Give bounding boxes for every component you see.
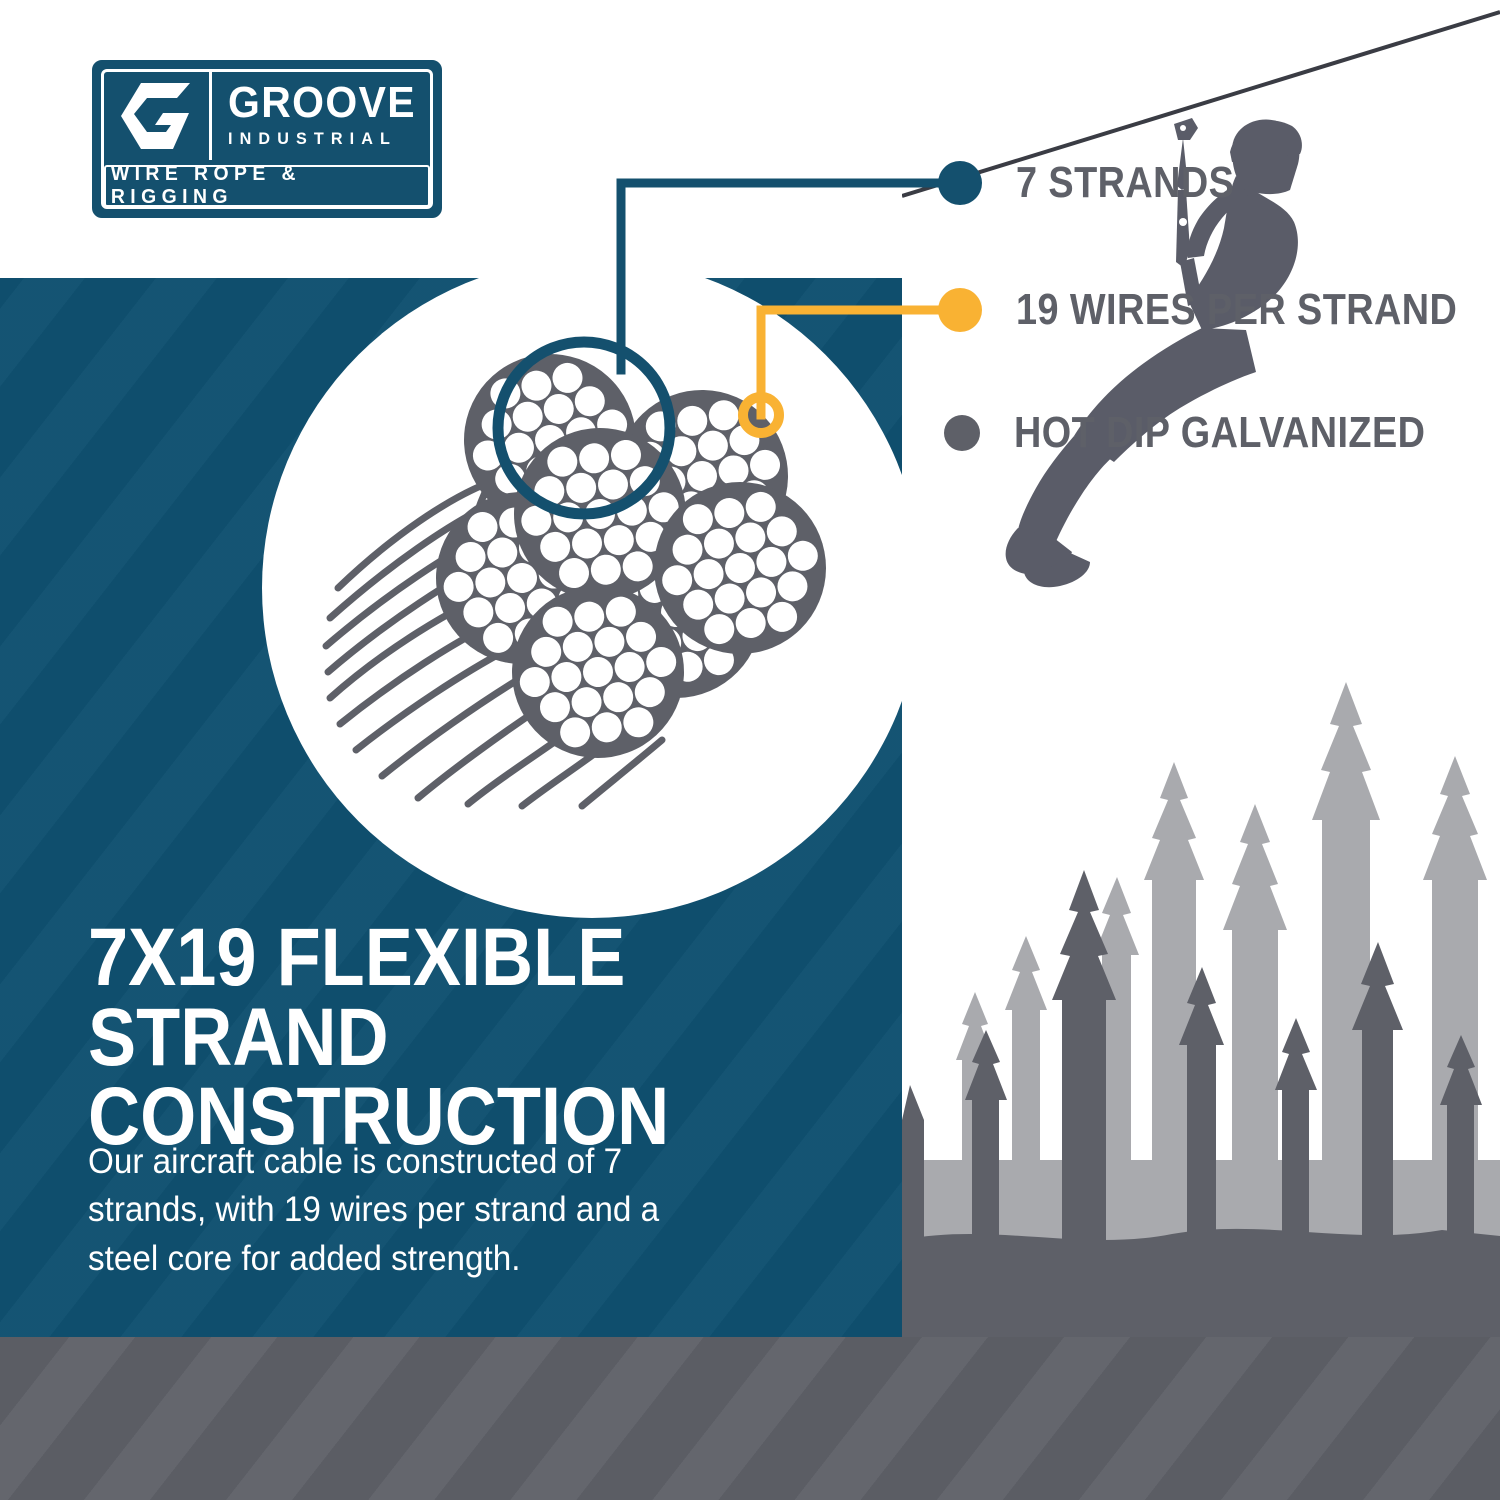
headline-line-1: 7X19 FLEXIBLE bbox=[88, 912, 625, 1003]
infographic-canvas: 7 STRANDS 19 WIRES PER STRAND HOT DIP GA… bbox=[0, 0, 1500, 1500]
callout-label-wires: 19 WIRES PER STRAND bbox=[1016, 285, 1457, 335]
logo-mark-cell bbox=[104, 72, 212, 160]
logo-subname: INDUSTRIAL bbox=[228, 129, 420, 149]
headline-line-2: STRAND CONSTRUCTION bbox=[88, 998, 783, 1157]
strand-group bbox=[425, 336, 841, 771]
logo-top-row: GROOVE INDUSTRIAL bbox=[104, 72, 430, 160]
bullet-dot-wires bbox=[938, 288, 982, 332]
logo-wordmark: GROOVE INDUSTRIAL bbox=[212, 72, 430, 160]
body-paragraph: Our aircraft cable is constructed of 7 s… bbox=[88, 1138, 734, 1283]
callout-strands[interactable]: 7 STRANDS bbox=[938, 158, 1270, 208]
callout-wires[interactable]: 19 WIRES PER STRAND bbox=[938, 285, 1500, 335]
callout-galvanized[interactable]: HOT DIP GALVANIZED bbox=[944, 408, 1492, 458]
groove-g-icon bbox=[119, 83, 193, 149]
callout-label-galvanized: HOT DIP GALVANIZED bbox=[1014, 408, 1425, 458]
diagonal-stripe-texture-bottom bbox=[0, 1337, 1500, 1500]
wire-rope-cross-section bbox=[300, 300, 890, 820]
logo-name: GROOVE bbox=[228, 83, 416, 123]
bullet-dot-galvanized bbox=[944, 415, 980, 451]
logo-frame: GROOVE INDUSTRIAL WIRE ROPE & RIGGING bbox=[92, 60, 442, 218]
callout-label-strands: 7 STRANDS bbox=[1016, 158, 1234, 208]
page-title: 7X19 FLEXIBLE STRAND CONSTRUCTION bbox=[88, 918, 783, 1157]
logo-tagline-bar: WIRE ROPE & RIGGING bbox=[104, 165, 430, 207]
logo-tagline: WIRE ROPE & RIGGING bbox=[111, 163, 423, 209]
brand-logo[interactable]: GROOVE INDUSTRIAL WIRE ROPE & RIGGING bbox=[92, 60, 442, 218]
bottom-gray-band bbox=[0, 1337, 1500, 1500]
bullet-dot-strands bbox=[938, 161, 982, 205]
